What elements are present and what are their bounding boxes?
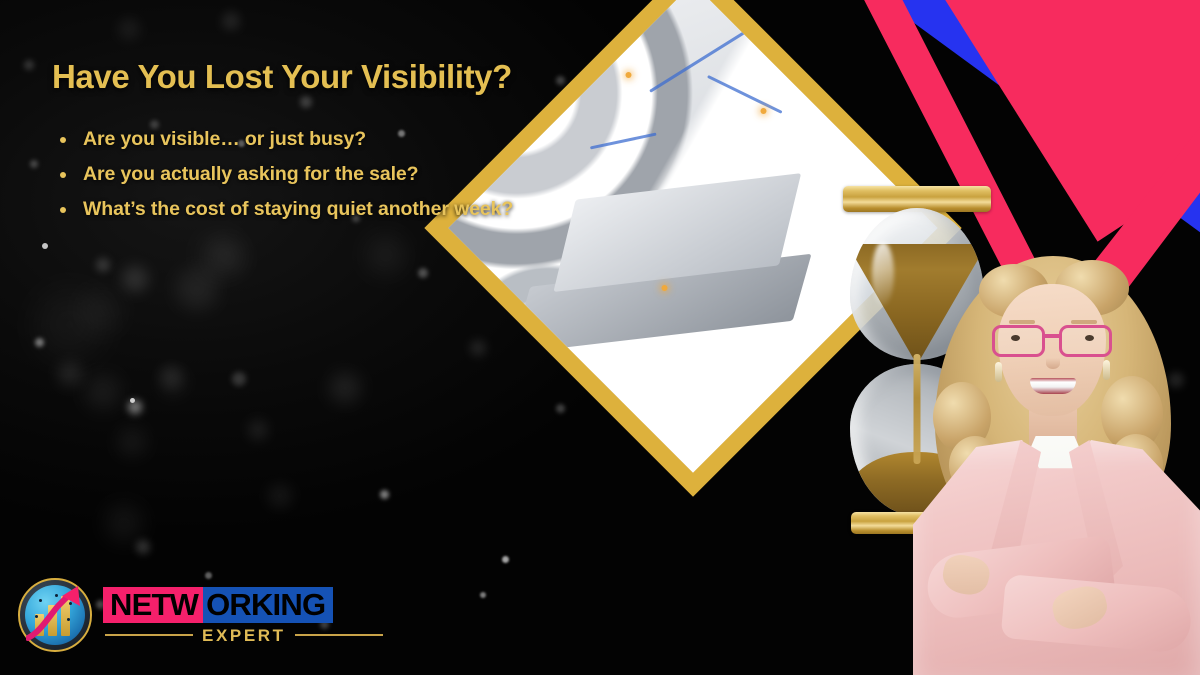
brand-logo[interactable]: NETW ORKING EXPERT (18, 578, 383, 652)
slide-canvas: Have You Lost Your Visibility? Are you v… (0, 0, 1200, 675)
logo-text-orking: ORKING (206, 589, 325, 620)
logo-word-part-pink: NETW (103, 587, 203, 623)
logo-tagline-row: EXPERT (103, 627, 383, 644)
list-item: What’s the cost of staying quiet another… (52, 198, 672, 221)
logo-text-net: NETW (110, 589, 198, 620)
logo-wordmark: NETW ORKING EXPERT (103, 587, 383, 644)
growth-arrow-icon (26, 584, 90, 648)
logo-word-networking: NETW ORKING (103, 587, 383, 623)
woman-portrait-image (905, 250, 1200, 675)
circuit-line (707, 75, 783, 114)
headline-block: Have You Lost Your Visibility? Are you v… (52, 58, 672, 233)
logo-tagline: EXPERT (202, 627, 286, 644)
eyeglasses (990, 325, 1114, 351)
tagline-rule-right (295, 634, 383, 636)
list-item: Are you actually asking for the sale? (52, 163, 672, 186)
page-title: Have You Lost Your Visibility? (52, 58, 672, 96)
eye-right (1085, 335, 1094, 341)
circuit-node-dot (760, 109, 766, 115)
glass-highlight (872, 242, 894, 306)
glasses-lens-right (1059, 325, 1112, 357)
eyebrow (1071, 320, 1097, 324)
eye-left (1011, 335, 1020, 341)
earring (995, 362, 1002, 382)
network-globe-growth-arrow-icon (18, 578, 92, 652)
bullet-list: Are you visible… or just busy? Are you a… (52, 128, 672, 221)
eyebrow (1009, 320, 1035, 324)
tagline-rule-left (105, 634, 193, 636)
nose (1046, 358, 1060, 369)
smile (1030, 378, 1076, 394)
list-item: Are you visible… or just busy? (52, 128, 672, 151)
earring (1103, 360, 1110, 380)
logo-word-part-blue: ORKING (203, 587, 333, 623)
glasses-lens-left (992, 325, 1045, 357)
